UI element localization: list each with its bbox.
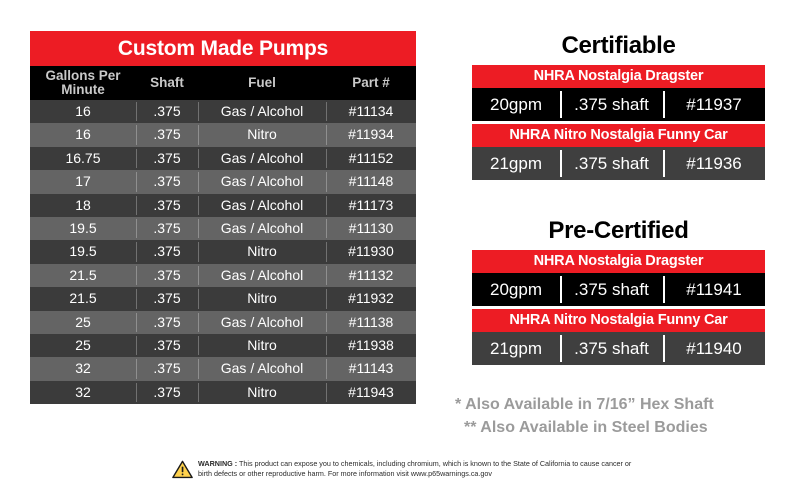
cell-gallons-per-minute: 32 xyxy=(30,381,136,404)
cell-shaft: .375 xyxy=(136,287,198,310)
cell-fuel: Gas / Alcohol xyxy=(198,147,326,170)
cell-shaft: .375 xyxy=(136,311,198,334)
cert-category-band: NHRA Nitro Nostalgia Funny Car xyxy=(472,124,765,147)
cell-part-number: #11152 xyxy=(326,147,416,170)
prop65-warning-label: WARNING : xyxy=(198,459,237,468)
cell-gallons-per-minute: 25 xyxy=(30,334,136,357)
cell-fuel: Gas / Alcohol xyxy=(198,357,326,380)
cell-shaft: .375 xyxy=(136,217,198,240)
cell-fuel: Nitro xyxy=(198,123,326,146)
cell-fuel: Nitro xyxy=(198,381,326,404)
cell-fuel: Gas / Alcohol xyxy=(198,217,326,240)
cell-shaft: .375 xyxy=(136,147,198,170)
table-row: 21.5.375Nitro#11932 xyxy=(30,287,416,310)
cell-fuel: Gas / Alcohol xyxy=(198,194,326,217)
cell-fuel: Nitro xyxy=(198,334,326,357)
footnote-steel-bodies: ** Also Available in Steel Bodies xyxy=(455,416,775,439)
precertified-section: Pre-Certified NHRA Nostalgia Dragster20g… xyxy=(472,216,765,368)
cell-shaft: .375 xyxy=(136,170,198,193)
certifiable-section: Certifiable NHRA Nostalgia Dragster20gpm… xyxy=(472,31,765,183)
table-row: 17.375Gas / Alcohol#11148 xyxy=(30,170,416,193)
cell-gallons-per-minute: 16.75 xyxy=(30,147,136,170)
cell-part-number: #11132 xyxy=(326,264,416,287)
table-row: 25.375Nitro#11938 xyxy=(30,334,416,357)
table-row: 32.375Nitro#11943 xyxy=(30,381,416,404)
cert-category-band: NHRA Nostalgia Dragster xyxy=(472,250,765,273)
table-row: 21.5.375Gas / Alcohol#11132 xyxy=(30,264,416,287)
cell-shaft: .375 xyxy=(136,123,198,146)
table-row: 32.375Gas / Alcohol#11143 xyxy=(30,357,416,380)
cell-gallons-per-minute: 16 xyxy=(30,123,136,146)
cell-gpm: 21gpm xyxy=(472,147,560,180)
cell-part-number: #11148 xyxy=(326,170,416,193)
footnote-hex-shaft: * Also Available in 7/16” Hex Shaft xyxy=(455,393,775,416)
cell-part-number: #11134 xyxy=(326,100,416,123)
cell-shaft: .375 shaft xyxy=(560,88,663,121)
cell-part-number: #11937 xyxy=(663,88,765,121)
cell-gallons-per-minute: 19.5 xyxy=(30,240,136,263)
cert-category-band: NHRA Nostalgia Dragster xyxy=(472,65,765,88)
cell-shaft: .375 xyxy=(136,264,198,287)
cell-gpm: 21gpm xyxy=(472,332,560,365)
cell-part-number: #11934 xyxy=(326,123,416,146)
cell-fuel: Gas / Alcohol xyxy=(198,311,326,334)
cell-gallons-per-minute: 32 xyxy=(30,357,136,380)
cell-part-number: #11143 xyxy=(326,357,416,380)
table-row: 19.5.375Nitro#11930 xyxy=(30,240,416,263)
cell-part-number: #11138 xyxy=(326,311,416,334)
column-header-fuel: Fuel xyxy=(198,76,326,90)
certifiable-table: NHRA Nostalgia Dragster20gpm.375 shaft#1… xyxy=(472,65,765,180)
table-row: 25.375Gas / Alcohol#11138 xyxy=(30,311,416,334)
cell-part-number: #11941 xyxy=(663,273,765,306)
cell-part-number: #11130 xyxy=(326,217,416,240)
table-row: 18.375Gas / Alcohol#11173 xyxy=(30,194,416,217)
main-table-header-row: Gallons Per Minute Shaft Fuel Part # xyxy=(30,66,416,100)
precertified-table: NHRA Nostalgia Dragster20gpm.375 shaft#1… xyxy=(472,250,765,365)
main-table-title: Custom Made Pumps xyxy=(30,31,416,66)
cell-gpm: 20gpm xyxy=(472,88,560,121)
cell-fuel: Gas / Alcohol xyxy=(198,264,326,287)
cell-gallons-per-minute: 17 xyxy=(30,170,136,193)
cell-gallons-per-minute: 16 xyxy=(30,100,136,123)
cell-fuel: Gas / Alcohol xyxy=(198,170,326,193)
cell-shaft: .375 xyxy=(136,100,198,123)
column-header-part-number: Part # xyxy=(326,76,416,90)
cell-part-number: #11938 xyxy=(326,334,416,357)
cell-shaft: .375 shaft xyxy=(560,273,663,306)
cell-part-number: #11930 xyxy=(326,240,416,263)
main-table-body: 16.375Gas / Alcohol#1113416.375Nitro#119… xyxy=(30,100,416,404)
cell-fuel: Nitro xyxy=(198,240,326,263)
cell-shaft: .375 xyxy=(136,240,198,263)
prop65-warning-text: WARNING : This product can expose you to… xyxy=(198,459,642,479)
custom-made-pumps-table: Custom Made Pumps Gallons Per Minute Sha… xyxy=(30,31,416,404)
cell-fuel: Gas / Alcohol xyxy=(198,100,326,123)
cell-part-number: #11173 xyxy=(326,194,416,217)
cell-gallons-per-minute: 18 xyxy=(30,194,136,217)
cert-spec-row: 20gpm.375 shaft#11941 xyxy=(472,273,765,306)
certifiable-heading: Certifiable xyxy=(472,31,765,62)
table-row: 16.375Nitro#11934 xyxy=(30,123,416,146)
precertified-heading: Pre-Certified xyxy=(472,216,765,247)
cell-shaft: .375 shaft xyxy=(560,147,663,180)
cell-gpm: 20gpm xyxy=(472,273,560,306)
prop65-warning-body: This product can expose you to chemicals… xyxy=(198,459,631,478)
table-row: 16.75.375Gas / Alcohol#11152 xyxy=(30,147,416,170)
warning-triangle-icon xyxy=(172,460,193,479)
cert-spec-row: 21gpm.375 shaft#11936 xyxy=(472,147,765,180)
cert-spec-row: 20gpm.375 shaft#11937 xyxy=(472,88,765,121)
column-header-gallons-per-minute: Gallons Per Minute xyxy=(30,69,136,97)
cell-part-number: #11932 xyxy=(326,287,416,310)
cell-shaft: .375 xyxy=(136,194,198,217)
cell-gallons-per-minute: 19.5 xyxy=(30,217,136,240)
cell-part-number: #11936 xyxy=(663,147,765,180)
footnotes: * Also Available in 7/16” Hex Shaft ** A… xyxy=(455,393,775,439)
cell-shaft: .375 xyxy=(136,357,198,380)
cell-part-number: #11943 xyxy=(326,381,416,404)
table-row: 16.375Gas / Alcohol#11134 xyxy=(30,100,416,123)
cert-spec-row: 21gpm.375 shaft#11940 xyxy=(472,332,765,365)
cell-shaft: .375 shaft xyxy=(560,332,663,365)
cell-part-number: #11940 xyxy=(663,332,765,365)
cell-gallons-per-minute: 21.5 xyxy=(30,264,136,287)
cell-fuel: Nitro xyxy=(198,287,326,310)
cell-shaft: .375 xyxy=(136,381,198,404)
cert-category-band: NHRA Nitro Nostalgia Funny Car xyxy=(472,309,765,332)
cell-gallons-per-minute: 21.5 xyxy=(30,287,136,310)
table-row: 19.5.375Gas / Alcohol#11130 xyxy=(30,217,416,240)
cell-shaft: .375 xyxy=(136,334,198,357)
prop65-warning: WARNING : This product can expose you to… xyxy=(172,459,642,479)
cell-gallons-per-minute: 25 xyxy=(30,311,136,334)
column-header-shaft: Shaft xyxy=(136,76,198,90)
